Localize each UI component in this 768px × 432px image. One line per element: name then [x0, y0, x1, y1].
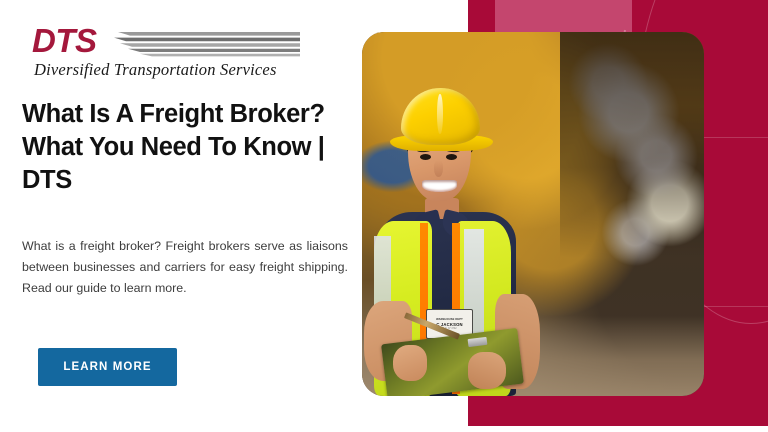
promo-banner: WAREHOUSE DEPT C JACKSON C.N. 37 47b2 DT…: [0, 0, 768, 432]
pink-accent-block: [495, 0, 632, 32]
warehouse-worker-figure: WAREHOUSE DEPT C JACKSON C.N. 37 47b2: [362, 32, 704, 396]
learn-more-button[interactable]: LEARN MORE: [38, 348, 177, 386]
page-title: What Is A Freight Broker? What You Need …: [22, 98, 352, 197]
body-description: What is a freight broker? Freight broker…: [22, 236, 348, 299]
hero-photo: WAREHOUSE DEPT C JACKSON C.N. 37 47b2: [362, 32, 704, 396]
dts-logo[interactable]: DTS Diversified Transportation Services: [32, 24, 300, 80]
logo-speed-lines-icon: [114, 30, 300, 58]
worker-hand-left: [393, 345, 427, 381]
hard-hat-ridge: [437, 94, 442, 134]
worker-hand-right: [468, 352, 506, 388]
logo-wordmark-text: Diversified Transportation Services: [34, 60, 277, 80]
logo-mark-text: DTS: [32, 24, 97, 58]
decorative-outline-rectangle: [700, 137, 768, 307]
content-column: DTS Diversified Transportation Services …: [22, 0, 352, 432]
